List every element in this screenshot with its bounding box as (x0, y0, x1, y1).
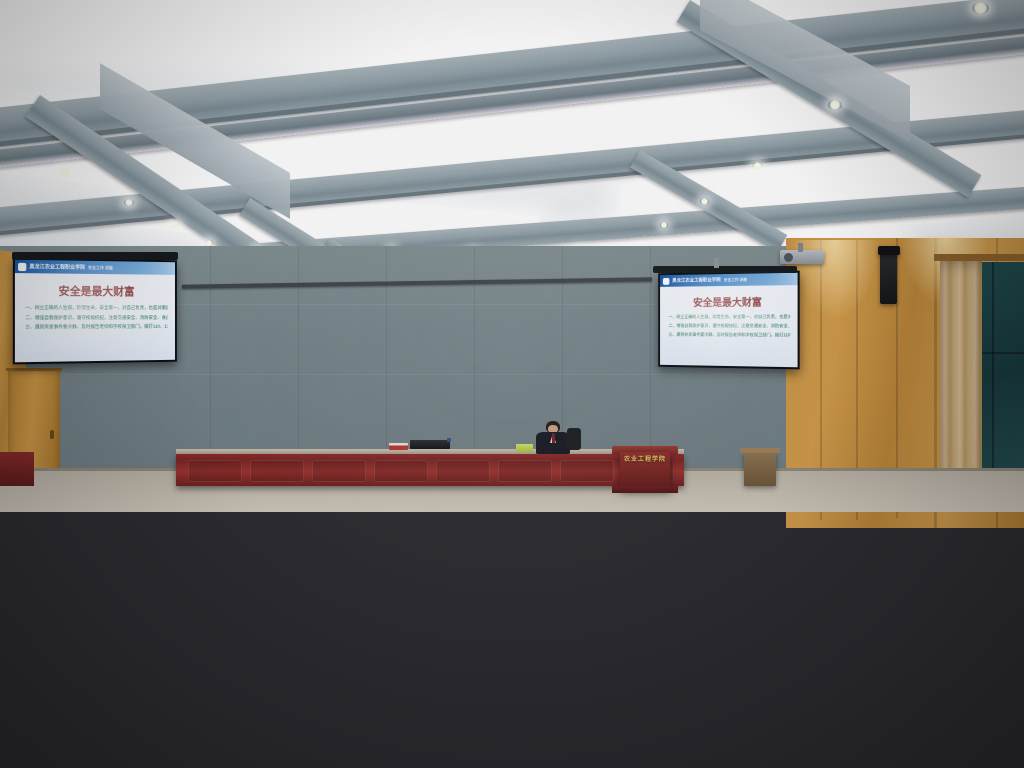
slide-bullet: 三、遇到突发事件要冷静，及时报告老师和学校保卫部门，拨打110、119、120求… (668, 332, 790, 339)
slide-bullet: 二、增强自我保护意识，遵守校规校纪，注意交通安全、消防安全、食品卫生安全。 (668, 323, 790, 329)
ceiling-downlight (752, 162, 763, 170)
door-frame (6, 368, 62, 371)
ceiling-downlight (828, 100, 842, 110)
screen-roller-case (12, 252, 178, 260)
name-placard-red (389, 443, 408, 450)
slide-header-sub: 安全工作 讲座 (724, 277, 748, 282)
projection-screen-right[interactable]: 黑龙江农业工程职业学院 安全工作 讲座 安全是最大财富 一、树立正确的人生观，珍… (658, 271, 799, 370)
slide-header-sub: 安全工作 讲座 (88, 264, 113, 270)
device-indicator-icon (447, 438, 451, 442)
wall-seam (474, 246, 475, 456)
ceiling-downlight (700, 198, 709, 205)
ceiling-downlight (660, 222, 668, 228)
auditorium-photo: 黑龙江农业工程职业学院 安全工作 讲座 安全是最大财富 一、树立正确的人生观，珍… (0, 0, 1024, 768)
slide-header-org: 黑龙江农业工程职业学院 (672, 277, 720, 284)
window-frame-top (934, 254, 1024, 261)
slide-body: 一、树立正确的人生观，珍惜生命，安全第一，对自己负责，也是对家庭负责。 二、增强… (668, 314, 790, 339)
wall-seam (386, 246, 387, 456)
coffered-ceiling (0, 0, 1024, 265)
side-lectern-top (740, 448, 780, 453)
laptop-device (410, 440, 450, 449)
slide-bullet: 一、树立正确的人生观，珍惜生命，安全第一，对自己负责，也是对家庭负责。 (25, 305, 167, 312)
ceiling-downlight (171, 222, 180, 228)
window-curtain (940, 258, 982, 490)
slide-logo-icon (663, 277, 670, 284)
slide-header: 黑龙江农业工程职业学院 安全工作 讲座 (660, 273, 798, 287)
slide-right: 黑龙江农业工程职业学院 安全工作 讲座 安全是最大财富 一、树立正确的人生观，珍… (660, 273, 798, 368)
slide-header-org: 黑龙江农业工程职业学院 (29, 263, 85, 271)
name-placard-green (516, 444, 533, 452)
slide-logo-icon (18, 262, 26, 270)
screen-roller-case (653, 266, 797, 273)
lecturer-tie (552, 434, 555, 443)
seated-audience (0, 470, 1024, 768)
slide-header: 黑龙江农业工程职业学院 安全工作 讲座 (15, 260, 175, 275)
wall-loudspeaker (880, 252, 897, 304)
slide-left: 黑龙江农业工程职业学院 安全工作 讲座 安全是最大财富 一、树立正确的人生观，珍… (15, 260, 175, 363)
wall-seam (210, 246, 211, 456)
stage-chair (567, 428, 581, 450)
projector-mount (798, 243, 803, 252)
ceiling-downlight (972, 2, 989, 14)
slide-title: 安全是最大财富 (15, 282, 175, 299)
projection-screen-left[interactable]: 黑龙江农业工程职业学院 安全工作 讲座 安全是最大财富 一、树立正确的人生观，珍… (13, 258, 177, 365)
screen-mount-bracket (714, 258, 719, 268)
wall-loudspeaker (878, 246, 900, 255)
window-mullion (992, 262, 994, 492)
slide-bullet: 二、增强自我保护意识，遵守校规校纪，注意交通安全、消防安全、食品卫生安全。 (25, 314, 167, 321)
projector-lens-icon (784, 253, 793, 262)
ceiling-downlight (124, 199, 134, 206)
slide-bullet: 三、遇到突发事件要冷静，及时报告老师和学校保卫部门，拨打110、119、120求… (25, 324, 167, 331)
wall-seam (298, 246, 299, 456)
slide-bullet: 一、树立正确的人生观，珍惜生命，安全第一，对自己负责，也是对家庭负责。 (668, 314, 790, 320)
door-handle-icon[interactable] (50, 430, 54, 439)
ceiling-downlight (58, 168, 71, 177)
slide-title: 安全是最大财富 (660, 293, 798, 309)
slide-body: 一、树立正确的人生观，珍惜生命，安全第一，对自己负责，也是对家庭负责。 二、增强… (25, 305, 167, 331)
podium-inscription: 农业工程学院 (624, 454, 666, 463)
